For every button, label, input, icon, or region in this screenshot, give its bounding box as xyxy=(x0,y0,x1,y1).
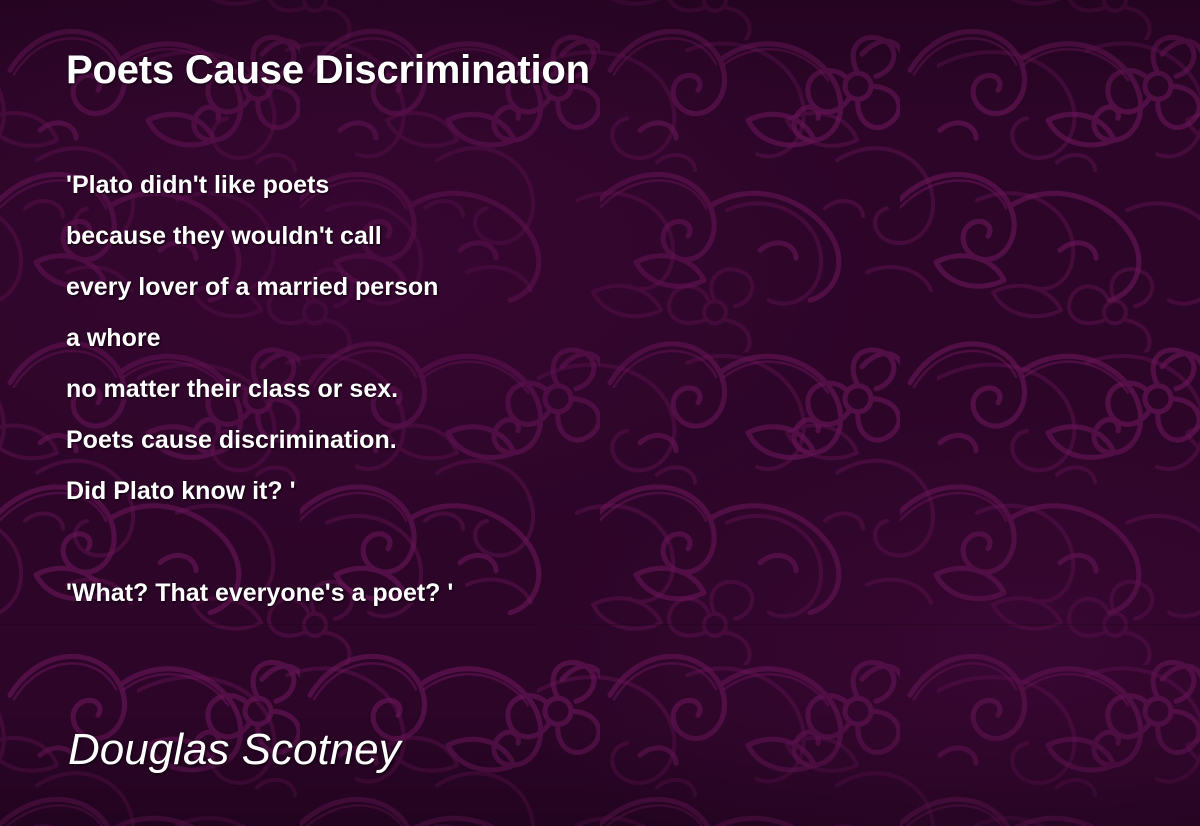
poem-line: every lover of a married person xyxy=(66,262,1066,313)
poem-line: 'What? That everyone's a poet? ' xyxy=(66,568,1066,619)
poem-line: a whore xyxy=(66,313,1066,364)
poem-content: Poets Cause Discrimination 'Plato didn't… xyxy=(0,0,1200,826)
page-title: Poets Cause Discrimination xyxy=(66,48,590,92)
poem-line: Poets cause discrimination. xyxy=(66,415,1066,466)
poem-card: Poets Cause Discrimination 'Plato didn't… xyxy=(0,0,1200,826)
poem-line: Did Plato know it? ' xyxy=(66,466,1066,517)
poem-line: because they wouldn't call xyxy=(66,211,1066,262)
poem-line-blank xyxy=(66,517,1066,568)
poem-author-signature: Douglas Scotney xyxy=(68,726,401,774)
poem-line: 'Plato didn't like poets xyxy=(66,160,1066,211)
poem-line: no matter their class or sex. xyxy=(66,364,1066,415)
poem-text-block: 'Plato didn't like poetsbecause they wou… xyxy=(66,160,1066,619)
